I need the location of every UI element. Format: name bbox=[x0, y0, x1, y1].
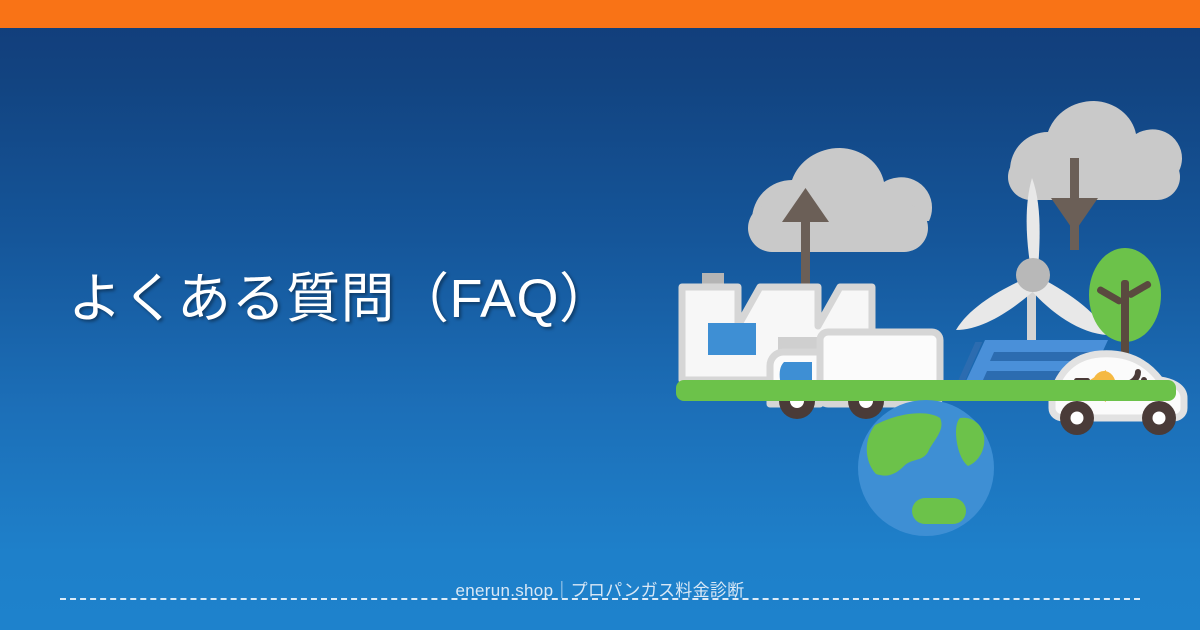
ground-bar bbox=[676, 380, 1176, 401]
slide-canvas: よくある質問（FAQ） enerun.shop｜プロパンガス料金診断 bbox=[0, 0, 1200, 630]
earth-globe-icon bbox=[858, 400, 994, 536]
illustration-eco-energy-scene bbox=[660, 80, 1200, 550]
top-accent-bar bbox=[0, 0, 1200, 28]
page-title: よくある質問（FAQ） bbox=[68, 268, 614, 330]
footer-divider bbox=[60, 598, 1140, 600]
